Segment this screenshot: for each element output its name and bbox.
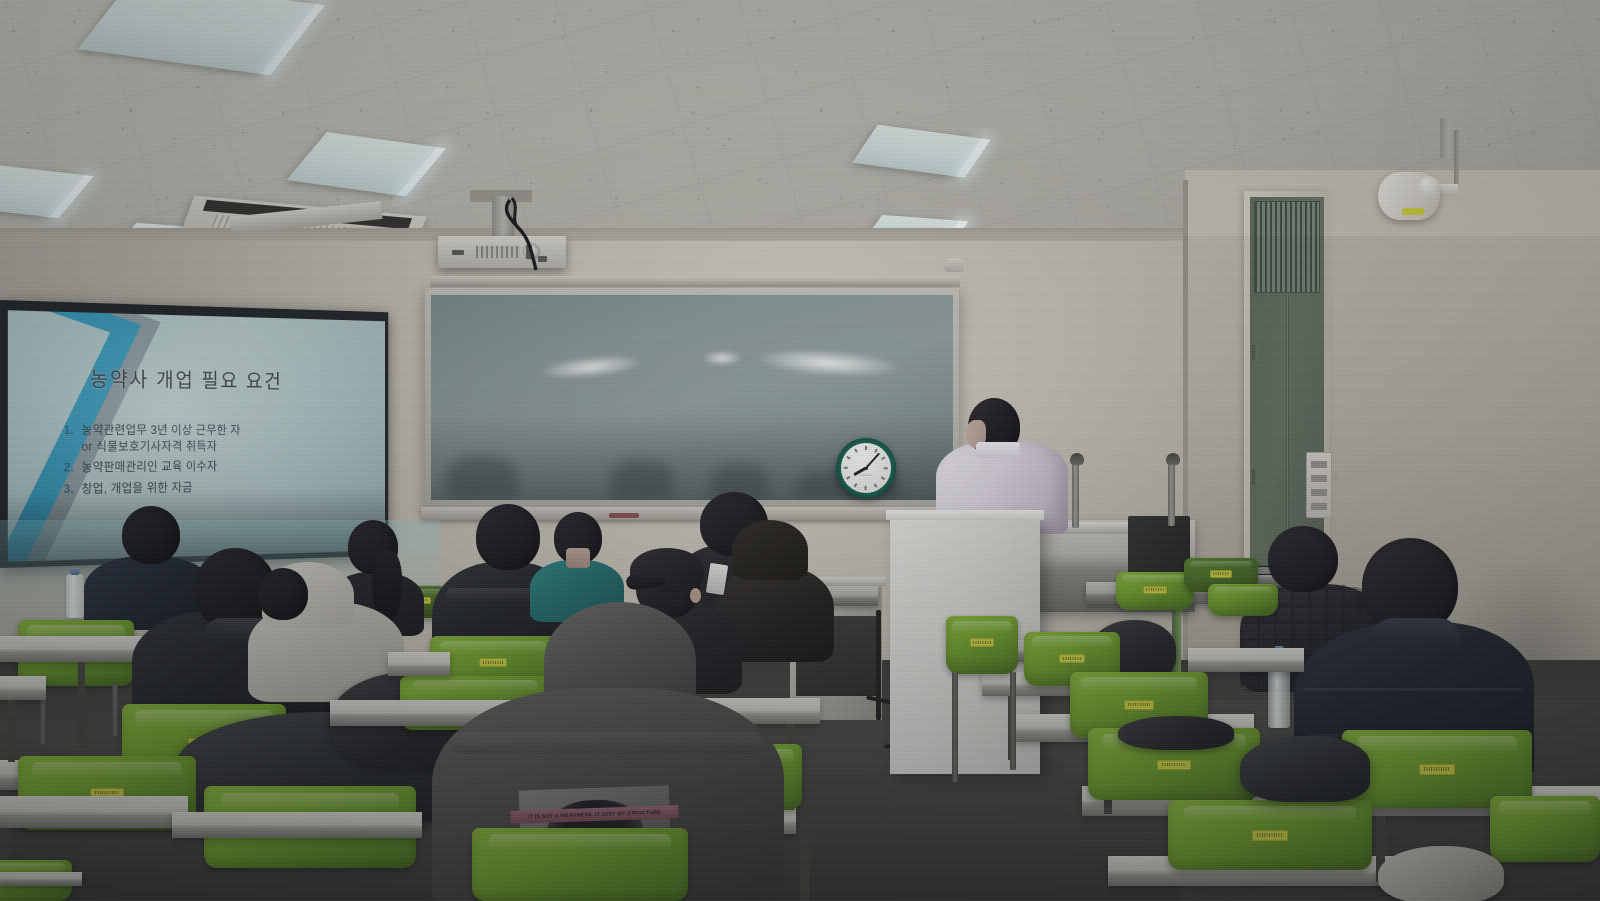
chair-right-1[interactable] xyxy=(946,616,1018,674)
chair-right-8[interactable] xyxy=(1208,584,1278,616)
chair-label xyxy=(1124,700,1154,710)
panel-switch-2[interactable] xyxy=(1311,475,1327,482)
door-hinge-upper xyxy=(1252,345,1258,361)
puffer-collar xyxy=(1372,618,1460,646)
floor-cable-2 xyxy=(876,610,881,720)
mic-head-2 xyxy=(1166,453,1180,465)
clock-face: elecomm xyxy=(841,443,891,493)
desk-leg-center-2 xyxy=(800,834,809,901)
podium-top-surface xyxy=(886,510,1044,520)
chair-leg-right-1 xyxy=(952,672,958,782)
slide-item-line2: or 식물보호기사자격 취득자 xyxy=(82,439,218,453)
slide-title: 농약사 개업 필요 요건 xyxy=(90,364,361,396)
chair-label xyxy=(1419,764,1455,775)
wall-corner-seam xyxy=(1183,180,1188,720)
smartphone[interactable] xyxy=(706,563,728,595)
slide-list-item-1: 1. 농약관련업무 3년 이상 근무한 자 or 식물보호기사자격 취득자 xyxy=(64,422,363,455)
whiteboard-light-reflection-1 xyxy=(540,352,642,382)
whiteboard-top-rail xyxy=(430,276,960,287)
projector-cable xyxy=(470,196,590,276)
glasses-icon xyxy=(1256,566,1282,575)
slide-item-line1: 농약관련업무 3년 이상 근무한 자 xyxy=(82,423,241,437)
desk-right-3 xyxy=(1188,648,1304,672)
slide-list-item-2: 2. 농약판매관리인 교육 이수자 xyxy=(64,458,363,476)
slide-item-number: 3. xyxy=(64,481,74,497)
bag-on-desk-right-2 xyxy=(1118,716,1234,750)
mic-head-1 xyxy=(1070,453,1084,465)
presenter-collar xyxy=(976,442,1020,458)
wall-clock: elecomm xyxy=(836,438,896,498)
water-bottle-left[interactable] xyxy=(66,574,84,618)
slide-item-text: 창업, 개업을 위한 자금 xyxy=(82,477,364,496)
panel-switch-4[interactable] xyxy=(1311,503,1327,510)
slide-item-text: 농약관련업무 3년 이상 근무한 자 or 식물보호기사자격 취득자 xyxy=(82,422,364,454)
speaker-swivel-knob xyxy=(1418,176,1440,198)
slide-item-number: 1. xyxy=(64,422,74,455)
speaker-mount-stem xyxy=(1454,130,1459,186)
wall-switch-panel[interactable] xyxy=(1306,452,1332,518)
mic-stand-2 xyxy=(1168,456,1175,526)
projector-port-1 xyxy=(452,250,464,255)
chair-label xyxy=(1143,586,1167,594)
chair-label xyxy=(1210,570,1232,578)
speaker-label-sticker xyxy=(1402,208,1424,215)
desk-leg-left-2 xyxy=(8,700,15,762)
wall-speaker-assembly xyxy=(1378,166,1456,224)
student-head xyxy=(258,568,308,620)
door-louver-vent xyxy=(1254,201,1320,293)
door-hinge-lower xyxy=(1252,469,1258,485)
desk-bottom-left-edge xyxy=(0,872,82,886)
wall-indicator-light xyxy=(1332,470,1338,482)
puffer-seam-1 xyxy=(1304,688,1524,691)
desk-left-1 xyxy=(0,636,150,662)
slide-item-text: 농약판매관리인 교육 이수자 xyxy=(82,458,364,476)
chair-right-7[interactable] xyxy=(1490,796,1600,862)
slide-item-number: 2. xyxy=(64,460,74,476)
chair-label xyxy=(1059,654,1085,663)
chair-leg-right-2 xyxy=(1010,672,1016,770)
slide-list-item-3: 3. 창업, 개업을 위한 자금 xyxy=(64,477,363,497)
chair-right-back-1[interactable] xyxy=(1116,572,1194,610)
student-ear xyxy=(690,588,701,603)
whiteboard-head-shadow-2 xyxy=(611,460,673,500)
ceiling-conduit xyxy=(1440,118,1450,158)
student-hood xyxy=(732,520,808,580)
slide-bullet-list: 1. 농약관련업무 3년 이상 근무한 자 or 식물보호기사자격 취득자 2.… xyxy=(64,422,363,502)
chair-leg xyxy=(112,684,118,736)
monitor-rear xyxy=(1128,516,1190,578)
bottle-cap xyxy=(71,568,80,575)
whiteboard-light-reflection-2 xyxy=(703,351,741,365)
clock-brand-text: elecomm xyxy=(860,474,872,477)
clock-center-pin xyxy=(865,467,868,470)
chair-label xyxy=(970,638,994,647)
panel-switch-3[interactable] xyxy=(1311,489,1327,496)
whiteboard-light-reflection-3 xyxy=(758,346,897,380)
wall-top-beam xyxy=(0,228,1210,241)
desk-left-2 xyxy=(0,676,46,700)
chair-label xyxy=(1252,830,1288,841)
hood-shoulder-fold xyxy=(452,732,762,754)
mic-stand-1 xyxy=(1072,456,1079,528)
ceiling-camera xyxy=(944,258,964,272)
whiteboard-head-shadow-1 xyxy=(447,456,517,500)
chair-foreground-center[interactable] xyxy=(472,828,688,901)
classroom-photo: elecomm 농약사 개업 필요 요건 1. 농약관련업무 3년 이상 근무한… xyxy=(0,0,1600,901)
student-neck xyxy=(566,548,590,568)
coat-pile-right xyxy=(1240,736,1370,802)
chair-label xyxy=(1157,760,1191,770)
desk-leg-left-1 xyxy=(78,662,85,748)
presenter xyxy=(930,398,1070,528)
bag-bottom-right xyxy=(1378,846,1504,901)
panel-switch-1[interactable] xyxy=(1311,461,1327,468)
chair-right-6[interactable] xyxy=(1168,800,1372,870)
desk-left-4 xyxy=(0,796,188,828)
desk-left-5 xyxy=(172,812,422,838)
